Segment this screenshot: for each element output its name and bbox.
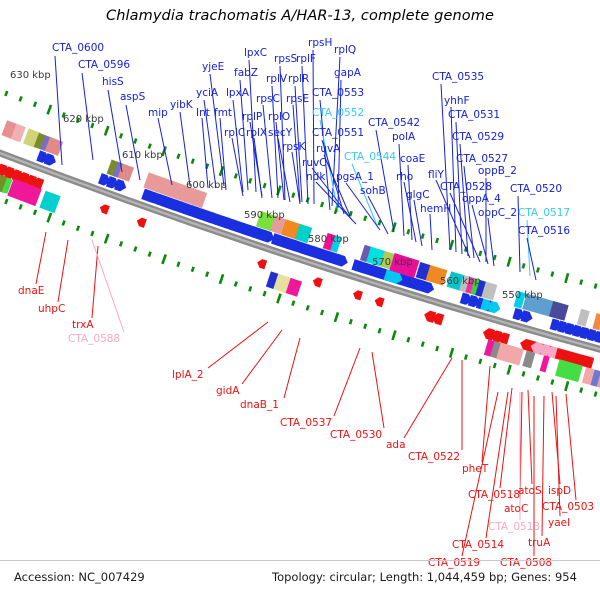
ruler-tick (435, 346, 439, 352)
gene-label-ada[interactable]: ada (386, 440, 406, 451)
ruler-tick (522, 263, 526, 269)
gene-label-yaei[interactable]: yaeI (548, 518, 570, 529)
gene-label-rpsc[interactable]: rpsC (256, 94, 280, 105)
gene-label-cta-0552[interactable]: CTA_0552 (312, 108, 364, 119)
ruler-tick (248, 286, 252, 292)
ruler-tick (33, 101, 37, 107)
gene-label-asps[interactable]: aspS (120, 92, 145, 103)
label-leader-line (486, 392, 508, 538)
gene-label-int[interactable]: Int (196, 108, 210, 119)
ruler-tick (4, 199, 8, 205)
ruler-tick (478, 358, 482, 364)
feature-shape (352, 289, 363, 300)
gene-label-lpxa[interactable]: lpxA (226, 88, 249, 99)
ruler-tick (62, 220, 66, 226)
ruler-tick (564, 381, 569, 391)
ruler-tick (248, 178, 252, 184)
ruler-tick-label: 570 kbp (372, 257, 413, 268)
ruler-tick (594, 391, 598, 397)
label-leader-line (242, 330, 282, 384)
footer-divider (0, 560, 600, 561)
gene-label-dnab-1[interactable]: dnaB_1 (240, 400, 279, 411)
gene-label-cta-0527[interactable]: CTA_0527 (456, 154, 508, 165)
ruler-tick (449, 348, 454, 358)
ruler-tick (536, 375, 540, 381)
label-leader-line (556, 396, 560, 516)
feature-shape (373, 296, 384, 307)
label-leader-line (249, 60, 256, 192)
ruler-tick-label: 580 kbp (308, 234, 349, 245)
label-leader-line (368, 196, 388, 234)
label-leader-line (92, 240, 124, 332)
ruler-tick (378, 328, 382, 334)
feature-shape (540, 355, 550, 372)
ruler-tick-label: 600 kbp (186, 180, 227, 191)
ruler-tick (579, 387, 583, 393)
ruler-tick (205, 271, 209, 277)
gene-arrow[interactable] (256, 258, 267, 269)
feature-shape (522, 350, 535, 368)
gene-label-ruva[interactable]: ruvA (316, 144, 340, 155)
gene-label-cta-0530[interactable]: CTA_0530 (330, 430, 382, 441)
gene-label-cta-0596[interactable]: CTA_0596 (78, 60, 130, 71)
ruler-tick (191, 266, 195, 272)
feature-shape (98, 203, 110, 215)
gene-label-cta-0522[interactable]: CTA_0522 (408, 452, 460, 463)
ruler-tick (46, 105, 52, 115)
gene-label-atoc[interactable]: atoC (504, 504, 528, 515)
feature-shape (577, 309, 590, 327)
gene-label-phet[interactable]: pheT (462, 464, 488, 475)
feature-shape (256, 258, 267, 269)
gene-label-rplr[interactable]: rplR (288, 74, 309, 85)
bottom-label-leader-lines (36, 232, 576, 556)
ruler-tick (133, 246, 137, 252)
gene-label-trua[interactable]: truA (528, 538, 550, 549)
genome-summary-text: Topology: circular; Length: 1,044,459 bp… (272, 570, 577, 584)
ruler-tick (161, 254, 167, 264)
label-leader-line (542, 396, 544, 536)
gene-label-ruvc[interactable]: ruvC (302, 158, 327, 169)
gene-label-glgc[interactable]: glgC (406, 190, 430, 201)
ruler-tick (406, 229, 410, 235)
gene-label-rpsh[interactable]: rpsH (308, 38, 332, 49)
gene-label-cta-0520[interactable]: CTA_0520 (510, 184, 562, 195)
ruler-tick-label: 610 kbp (122, 150, 163, 161)
ruler-tick (594, 283, 598, 289)
gene-label-rplo[interactable]: rplO (268, 112, 290, 123)
label-leader-line (430, 214, 432, 250)
gene-label-cta-0553[interactable]: CTA_0553 (312, 88, 364, 99)
ruler-tick (176, 261, 180, 267)
gene-box[interactable] (577, 309, 590, 327)
gene-label-cta-0588[interactable]: CTA_0588 (68, 334, 120, 345)
ruler-tick (291, 300, 295, 306)
gene-label-yhhf[interactable]: yhhF (444, 96, 470, 107)
gene-label-pgsa-1[interactable]: pgsA_1 (336, 172, 374, 183)
gene-label-cta-0528[interactable]: CTA_0528 (440, 182, 492, 193)
ruler-tick (33, 209, 37, 215)
gene-label-cta-0503[interactable]: CTA_0503 (542, 502, 594, 513)
ruler-tick (263, 183, 267, 189)
gene-label-fliy[interactable]: fliY (428, 170, 444, 181)
ruler-tick (435, 238, 439, 244)
gene-label-yjee[interactable]: yjeE (202, 62, 224, 73)
label-leader-line (92, 246, 98, 318)
gene-box[interactable] (496, 342, 524, 365)
ruler-tick (506, 365, 511, 375)
gene-label-cta-0514[interactable]: CTA_0514 (452, 540, 504, 551)
ruler-tick (334, 312, 340, 322)
feature-shape (39, 191, 60, 213)
ruler-tick (564, 273, 569, 283)
gene-arrow[interactable] (373, 296, 384, 307)
ruler-tick (119, 133, 123, 139)
gene-label-rpse[interactable]: rpsE (286, 94, 309, 105)
label-leader-line (372, 352, 384, 428)
gene-box[interactable] (540, 355, 550, 372)
gene-label-sohb[interactable]: sohB (360, 186, 386, 197)
gene-label-pola[interactable]: polA (392, 132, 415, 143)
ruler-tick (104, 234, 110, 244)
ruler-tick (148, 143, 152, 149)
gene-arrow[interactable] (98, 203, 110, 215)
label-leader-line (404, 358, 452, 438)
gene-label-cta-0518[interactable]: CTA_0518 (468, 490, 520, 501)
gene-label-rplv[interactable]: rplV (266, 74, 287, 85)
label-leader-line (180, 112, 190, 186)
gene-arrow[interactable] (311, 276, 322, 287)
ruler-tick (391, 330, 396, 340)
ruler-tick (90, 231, 94, 237)
gene-label-rho[interactable]: rho (396, 172, 413, 183)
gene-label-mip[interactable]: mip (148, 108, 168, 119)
gene-arrow[interactable] (135, 216, 147, 228)
gene-label-yibk[interactable]: yibK (170, 100, 193, 111)
ruler-tick (363, 323, 367, 329)
ruler-tick (506, 257, 511, 267)
gene-label-gapa[interactable]: gapA (334, 68, 361, 79)
gene-label-cta-0542[interactable]: CTA_0542 (368, 118, 420, 129)
gene-label-lpla-2[interactable]: lplA_2 (172, 370, 204, 381)
accession-text: Accession: NC_007429 (14, 570, 145, 584)
gene-label-hemh[interactable]: hemH (420, 204, 451, 215)
gene-label-atos[interactable]: atoS (518, 486, 542, 497)
gene-arrow[interactable] (352, 289, 363, 300)
label-leader-line (202, 118, 208, 188)
gene-label-coae[interactable]: coaE (400, 154, 425, 165)
gene-label-lpxc[interactable]: lpxC (244, 48, 267, 59)
gene-label-trxa[interactable]: trxA (72, 320, 94, 331)
gene-label-fmt[interactable]: fmt (214, 108, 232, 119)
feature-shape (135, 216, 147, 228)
gene-label-cta-0516[interactable]: CTA_0516 (518, 226, 570, 237)
ruler-tick (19, 204, 23, 210)
ruler-tick (579, 279, 583, 285)
label-leader-line (232, 138, 243, 196)
ruler-tick (493, 363, 497, 369)
gene-label-cta-0529[interactable]: CTA_0529 (452, 132, 504, 143)
label-leader-line (284, 338, 300, 398)
gene-label-secy[interactable]: secY (268, 128, 292, 139)
label-leader-line (36, 232, 46, 284)
ruler-tick-label: 560 kbp (440, 276, 481, 287)
label-leader-line (488, 218, 494, 266)
ruler-tick (536, 267, 540, 273)
gene-label-cta-0513[interactable]: CTA_0513 (488, 522, 540, 533)
ruler-tick (291, 192, 295, 198)
gene-label-cta-0517[interactable]: CTA_0517 (518, 208, 570, 219)
ruler-tick-label: 550 kbp (502, 290, 543, 301)
gene-label-cta-0531[interactable]: CTA_0531 (448, 110, 500, 121)
gene-box[interactable] (522, 350, 535, 368)
ruler-tick (363, 215, 367, 221)
gene-label-cta-0537[interactable]: CTA_0537 (280, 418, 332, 429)
gene-label-rplf[interactable]: rplF (296, 54, 316, 65)
ruler-tick (522, 371, 526, 377)
ruler-tick (219, 274, 225, 284)
gene-label-cta-0600[interactable]: CTA_0600 (52, 43, 104, 54)
ruler-tick (421, 233, 425, 239)
ruler-tick (19, 96, 23, 102)
gene-label-gida[interactable]: gidA (216, 386, 239, 397)
genome-map-view: Chlamydia trachomatis A/HAR-13, complete… (0, 0, 600, 600)
ruler-tick (349, 319, 353, 325)
ruler-tick (263, 291, 267, 297)
gene-label-cta-0535[interactable]: CTA_0535 (432, 72, 484, 83)
forward-strand-features[interactable] (1, 120, 600, 344)
label-leader-line (302, 66, 308, 204)
label-leader-line (58, 240, 68, 302)
label-leader-line (528, 390, 532, 484)
feature-shape (496, 342, 524, 365)
ruler-tick (550, 271, 554, 277)
label-leader-line (527, 238, 536, 280)
gene-label-ycia[interactable]: yciA (196, 88, 218, 99)
gene-label-rpss[interactable]: rpsS (274, 54, 297, 65)
gene-label-hiss[interactable]: hisS (102, 77, 124, 88)
ruler-tick (550, 379, 554, 385)
gene-label-dnae[interactable]: dnaE (18, 286, 44, 297)
ruler-tick (191, 158, 195, 164)
ruler-tick (234, 173, 238, 179)
ruler-tick (320, 310, 324, 316)
ruler-tick (76, 225, 80, 231)
gene-label-uhpc[interactable]: uhpC (38, 304, 65, 315)
ruler-tick (4, 91, 8, 97)
gene-label-oppb-2[interactable]: oppB_2 (478, 166, 517, 177)
ruler-tick (148, 251, 152, 257)
ruler-tick (464, 354, 468, 360)
gene-label-rplc[interactable]: rplC (224, 128, 245, 139)
ruler-tick-label: 590 kbp (244, 210, 285, 221)
feature-shape (592, 313, 600, 332)
ruler-tick-label: 630 kbp (10, 70, 51, 81)
ruler-tick (119, 241, 123, 247)
ruler-tick (234, 281, 238, 287)
label-leader-line (451, 107, 456, 252)
gene-box[interactable] (592, 313, 600, 332)
feature-shape (311, 276, 322, 287)
gene-label-oppc-2[interactable]: oppC_2 (478, 208, 517, 219)
gene-label-ispd[interactable]: ispD (548, 486, 571, 497)
gene-label-ndk[interactable]: ndk (306, 172, 325, 183)
gene-label-oppa-4[interactable]: oppA_4 (462, 194, 501, 205)
label-leader-line (334, 348, 360, 416)
gene-label-rplx[interactable]: rplX (246, 128, 267, 139)
ruler-tick (176, 153, 180, 159)
gene-label-rplp[interactable]: rplP (242, 112, 262, 123)
ruler-tick (478, 250, 482, 256)
gene-label-cta-0544[interactable]: CTA_0544 (344, 152, 396, 163)
gene-box[interactable] (39, 191, 60, 213)
ruler-tick (46, 213, 52, 223)
ruler-tick-label: 620 kbp (63, 114, 104, 125)
ruler-tick (320, 202, 324, 208)
ruler-tick (133, 138, 137, 144)
ruler-tick (406, 337, 410, 343)
ruler-tick (276, 293, 282, 303)
gene-label-cta-0551[interactable]: CTA_0551 (312, 128, 364, 139)
ruler-tick (306, 305, 310, 311)
gene-label-fabz[interactable]: fabZ (234, 68, 258, 79)
ruler-tick (421, 341, 425, 347)
gene-label-rpsk[interactable]: rpsK (282, 142, 305, 153)
ruler-tick (104, 126, 110, 136)
gene-label-rplq[interactable]: rplQ (334, 45, 356, 56)
